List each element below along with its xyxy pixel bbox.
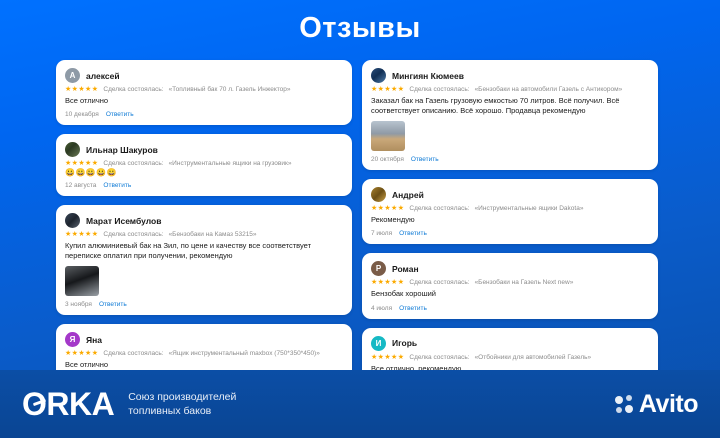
review-card[interactable]: Аалексей★★★★★Сделка состоялась:«Топливны… — [56, 60, 352, 125]
review-footer: 3 ноябряОтветить — [65, 301, 343, 308]
deal-status-label: Сделка состоялась: — [103, 86, 163, 93]
review-text: Купил алюминиевый бак на Зил, по цене и … — [65, 241, 343, 261]
review-card[interactable]: Андрей★★★★★Сделка состоялась:«Инструмент… — [362, 179, 658, 244]
review-header: ИИгорь — [371, 336, 649, 351]
review-header: Андрей — [371, 187, 649, 202]
review-photo-thumbnail[interactable] — [65, 266, 99, 296]
brand-tagline-line1: Союз производителей — [128, 390, 236, 404]
reviews-column-left: Аалексей★★★★★Сделка состоялась:«Топливны… — [56, 60, 352, 370]
avatar[interactable]: И — [371, 336, 386, 351]
deal-status-label: Сделка состоялась: — [409, 86, 469, 93]
review-text: Бензобак хороший — [371, 289, 649, 299]
review-card[interactable]: РРоман★★★★★Сделка состоялась:«Бензобаки … — [362, 253, 658, 318]
review-item-name[interactable]: «Инструментальные ящики на грузовик» — [169, 160, 292, 167]
review-item-name[interactable]: «Топливный бак 70 л. Газель Инжектор» — [169, 86, 291, 93]
review-author-name: Андрей — [392, 190, 424, 200]
review-author-name: алексей — [86, 71, 120, 81]
rating-stars-icon: ★★★★★ — [65, 86, 98, 93]
reply-button[interactable]: Ответить — [411, 156, 439, 163]
review-header: Ильнар Шакуров — [65, 142, 343, 157]
review-meta: ★★★★★Сделка состоялась:«Бензобаки на авт… — [371, 86, 649, 93]
review-meta: ★★★★★Сделка состоялась:«Отбойники для ав… — [371, 354, 649, 361]
avatar[interactable] — [65, 213, 80, 228]
review-footer: 10 декабряОтветить — [65, 111, 343, 118]
avatar[interactable]: Р — [371, 261, 386, 276]
review-footer: 7 июляОтветить — [371, 230, 649, 237]
review-date: 4 июля — [371, 305, 392, 312]
avatar[interactable]: А — [65, 68, 80, 83]
deal-status-label: Сделка состоялась: — [103, 231, 163, 238]
review-author-name: Марат Исембулов — [86, 216, 161, 226]
footer: ORKA Союз производителей топливных баков… — [0, 370, 720, 438]
page-header: Отзывы — [0, 0, 720, 56]
avatar[interactable] — [65, 142, 80, 157]
review-date: 3 ноября — [65, 301, 92, 308]
reviews-column-right: Мингиян Кюмеев★★★★★Сделка состоялась:«Бе… — [362, 60, 658, 370]
rating-stars-icon: ★★★★★ — [371, 86, 404, 93]
reply-button[interactable]: Ответить — [99, 301, 127, 308]
rating-stars-icon: ★★★★★ — [65, 160, 98, 167]
avito-dots-icon — [615, 395, 634, 414]
review-text: Рекомендую — [371, 215, 649, 225]
review-meta: ★★★★★Сделка состоялась:«Инструментальные… — [65, 160, 343, 167]
avatar[interactable] — [371, 68, 386, 83]
deal-status-label: Сделка состоялась: — [409, 205, 469, 212]
review-item-name[interactable]: «Бензобаки на автомобили Газель с Антико… — [475, 86, 623, 93]
deal-status-label: Сделка состоялась: — [409, 354, 469, 361]
review-text: Все отлично — [65, 360, 343, 370]
review-author-name: Игорь — [392, 338, 417, 348]
review-card[interactable]: Мингиян Кюмеев★★★★★Сделка состоялась:«Бе… — [362, 60, 658, 170]
review-photo-thumbnail[interactable] — [371, 121, 405, 151]
review-item-name[interactable]: «Ящик инструментальный maxbox (750*350*4… — [169, 350, 320, 357]
rating-stars-icon: ★★★★★ — [371, 279, 404, 286]
review-meta: ★★★★★Сделка состоялась:«Топливный бак 70… — [65, 86, 343, 93]
review-item-name[interactable]: «Бензобаки на Газель Next new» — [475, 279, 574, 286]
avatar[interactable]: Я — [65, 332, 80, 347]
review-header: Аалексей — [65, 68, 343, 83]
reply-button[interactable]: Ответить — [106, 111, 134, 118]
review-date: 7 июля — [371, 230, 392, 237]
avito-logo: Avito — [615, 392, 698, 417]
review-footer: 20 октябряОтветить — [371, 156, 649, 163]
deal-status-label: Сделка состоялась: — [103, 160, 163, 167]
review-footer: 12 августаОтветить — [65, 182, 343, 189]
review-date: 20 октября — [371, 156, 404, 163]
page-title: Отзывы — [299, 12, 421, 45]
review-item-name[interactable]: «Бензобаки на Камаз 53215» — [169, 231, 257, 238]
review-header: Марат Исембулов — [65, 213, 343, 228]
review-footer: 4 июляОтветить — [371, 305, 649, 312]
review-text: Все отлично — [65, 96, 343, 106]
rating-stars-icon: ★★★★★ — [371, 354, 404, 361]
brand-tagline: Союз производителей топливных баков — [128, 390, 236, 418]
review-date: 10 декабря — [65, 111, 99, 118]
review-header: ЯЯна — [65, 332, 343, 347]
reviews-columns: Аалексей★★★★★Сделка состоялась:«Топливны… — [0, 60, 720, 370]
review-author-name: Яна — [86, 335, 102, 345]
review-card[interactable]: Марат Исембулов★★★★★Сделка состоялась:«Б… — [56, 205, 352, 315]
rating-stars-icon: ★★★★★ — [65, 231, 98, 238]
review-meta: ★★★★★Сделка состоялась:«Бензобаки на Кам… — [65, 231, 343, 238]
rating-stars-icon: ★★★★★ — [371, 205, 404, 212]
review-meta: ★★★★★Сделка состоялась:«Бензобаки на Газ… — [371, 279, 649, 286]
review-meta: ★★★★★Сделка состоялась:«Инструментальные… — [371, 205, 649, 212]
avito-wordmark: Avito — [639, 392, 698, 417]
review-author-name: Мингиян Кюмеев — [392, 71, 464, 81]
reply-button[interactable]: Ответить — [103, 182, 131, 189]
avatar[interactable] — [371, 187, 386, 202]
reply-button[interactable]: Ответить — [399, 305, 427, 312]
review-author-name: Роман — [392, 264, 419, 274]
review-meta: ★★★★★Сделка состоялась:«Ящик инструмента… — [65, 350, 343, 357]
deal-status-label: Сделка состоялась: — [409, 279, 469, 286]
review-card[interactable]: Ильнар Шакуров★★★★★Сделка состоялась:«Ин… — [56, 134, 352, 196]
brand-tagline-line2: топливных баков — [128, 404, 236, 418]
review-header: РРоман — [371, 261, 649, 276]
brand-block: ORKA Союз производителей топливных баков — [22, 388, 236, 420]
review-author-name: Ильнар Шакуров — [86, 145, 158, 155]
review-date: 12 августа — [65, 182, 96, 189]
review-text: Заказал бак на Газель грузовую емкостью … — [371, 96, 649, 116]
reply-button[interactable]: Ответить — [399, 230, 427, 237]
deal-status-label: Сделка состоялась: — [103, 350, 163, 357]
review-item-name[interactable]: «Инструментальные ящики Dakota» — [475, 205, 584, 212]
orka-logo: ORKA — [22, 388, 114, 420]
review-item-name[interactable]: «Отбойники для автомобилей Газель» — [475, 354, 592, 361]
review-header: Мингиян Кюмеев — [371, 68, 649, 83]
rating-stars-icon: ★★★★★ — [65, 350, 98, 357]
review-emoji-text: 😀😀😀😀😀 — [65, 169, 343, 177]
